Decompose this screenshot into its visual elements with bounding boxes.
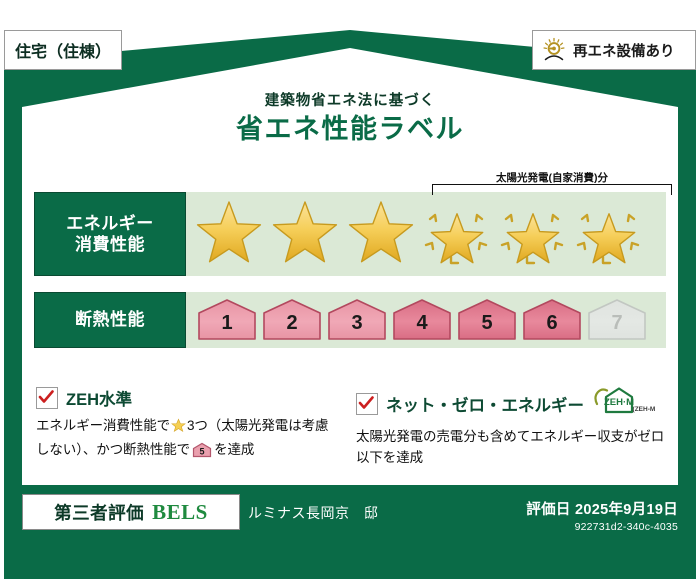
insulation-grade-number: 1 <box>221 312 232 335</box>
third-party-label: 第三者評価 <box>54 500 144 525</box>
energy-label-line2: 消費性能 <box>75 234 145 255</box>
renewable-energy-badge: 再エネ設備あり <box>532 30 696 70</box>
criteria-net-zero-header: ネット・ゼロ・エネルギー ZEH·M (ZEH-M) <box>356 386 666 421</box>
insulation-label: 断熱性能 <box>75 309 145 330</box>
insulation-grades-panel: 1234567 <box>186 292 666 348</box>
title-block: 建築物省エネ法に基づく 省エネ性能ラベル <box>0 92 700 147</box>
renewable-energy-label: 再エネ設備あり <box>573 40 675 61</box>
zeh-m-logo-icon: ZEH·M (ZEH-M) <box>593 386 655 421</box>
zeh-title: ZEH水準 <box>66 386 132 410</box>
bels-logo-text: BELS <box>152 500 208 525</box>
insulation-grade-number: 3 <box>351 312 362 335</box>
insulation-grade-number: 2 <box>286 312 297 335</box>
title-main: 省エネ性能ラベル <box>0 113 700 147</box>
insulation-grade-3: 3 <box>326 298 388 342</box>
dwelling-type-tag: 住宅（住棟） <box>4 30 122 70</box>
insulation-grade-number: 5 <box>481 312 492 335</box>
insulation-grade-group: 1234567 <box>186 292 666 348</box>
star-5 <box>496 201 570 267</box>
dwelling-type-label: 住宅（住棟） <box>15 38 111 62</box>
energy-performance-row: エネルギー 消費性能 太陽光発電(自家消費)分 <box>34 192 666 276</box>
insulation-grade-1: 1 <box>196 298 258 342</box>
insulation-grade-number: 7 <box>611 312 622 335</box>
sun-icon <box>541 37 567 63</box>
insulation-grade-6: 6 <box>521 298 583 342</box>
star-2 <box>268 201 342 267</box>
energy-stars-panel: 太陽光発電(自家消費)分 <box>186 192 666 276</box>
solar-annotation-bracket <box>432 184 672 195</box>
energy-performance-label-box: エネルギー 消費性能 <box>34 192 186 276</box>
net-zero-description: 太陽光発電の売電分も含めてエネルギー収支がゼロ以下を達成 <box>356 427 666 469</box>
inline-house-icon: 5 <box>192 446 212 461</box>
svg-text:(ZEH-M): (ZEH-M) <box>633 406 655 413</box>
evaluation-date-value: 2025年9月19日 <box>575 502 678 518</box>
svg-text:5: 5 <box>200 446 205 456</box>
bels-certification-box: 第三者評価 BELS <box>22 494 240 530</box>
zeh-description: エネルギー消費性能で3つ（太陽光発電は考慮しない）、かつ断熱性能で5を達成 <box>36 416 336 465</box>
certificate-id: 922731d2-340c-4035 <box>526 521 678 533</box>
property-name: ルミナス長岡京 邸 <box>248 503 379 523</box>
zeh-desc-pre: エネルギー消費性能で <box>36 418 170 433</box>
insulation-grade-4: 4 <box>391 298 453 342</box>
evaluation-date: 評価日 2025年9月19日 <box>526 498 678 519</box>
star-1 <box>192 201 266 267</box>
insulation-grade-5: 5 <box>456 298 518 342</box>
insulation-grade-7: 7 <box>586 298 648 342</box>
zeh-checkbox[interactable] <box>36 387 58 409</box>
energy-label-line1: エネルギー <box>66 213 154 234</box>
net-zero-checkbox[interactable] <box>356 393 378 415</box>
net-zero-title: ネット・ゼロ・エネルギー <box>386 392 584 416</box>
star-4 <box>420 201 494 267</box>
insulation-grade-number: 6 <box>546 312 557 335</box>
criteria-zeh-header: ZEH水準 <box>36 386 336 410</box>
energy-performance-label: 住宅（住棟） 再エネ設備あり 建築 <box>0 0 700 583</box>
star-rating-group <box>186 192 666 276</box>
inline-star-icon <box>171 421 186 436</box>
evaluation-date-label: 評価日 <box>526 502 570 518</box>
insulation-grade-number: 4 <box>416 312 427 335</box>
star-6 <box>572 201 646 267</box>
insulation-grade-2: 2 <box>261 298 323 342</box>
svg-text:ZEH·M: ZEH·M <box>604 397 634 408</box>
criteria-zeh: ZEH水準 エネルギー消費性能で3つ（太陽光発電は考慮しない）、かつ断熱性能で5… <box>36 386 336 465</box>
insulation-performance-label-box: 断熱性能 <box>34 292 186 348</box>
zeh-desc-post: を達成 <box>214 442 254 457</box>
insulation-performance-row: 断熱性能 1234567 <box>34 292 666 348</box>
title-subtitle: 建築物省エネ法に基づく <box>0 92 700 111</box>
star-3 <box>344 201 418 267</box>
evaluation-info: 評価日 2025年9月19日 922731d2-340c-4035 <box>526 498 678 533</box>
solar-annotation-label: 太陽光発電(自家消費)分 <box>432 170 672 185</box>
criteria-net-zero: ネット・ゼロ・エネルギー ZEH·M (ZEH-M) 太陽光発電の売電分も含めて… <box>356 386 666 469</box>
